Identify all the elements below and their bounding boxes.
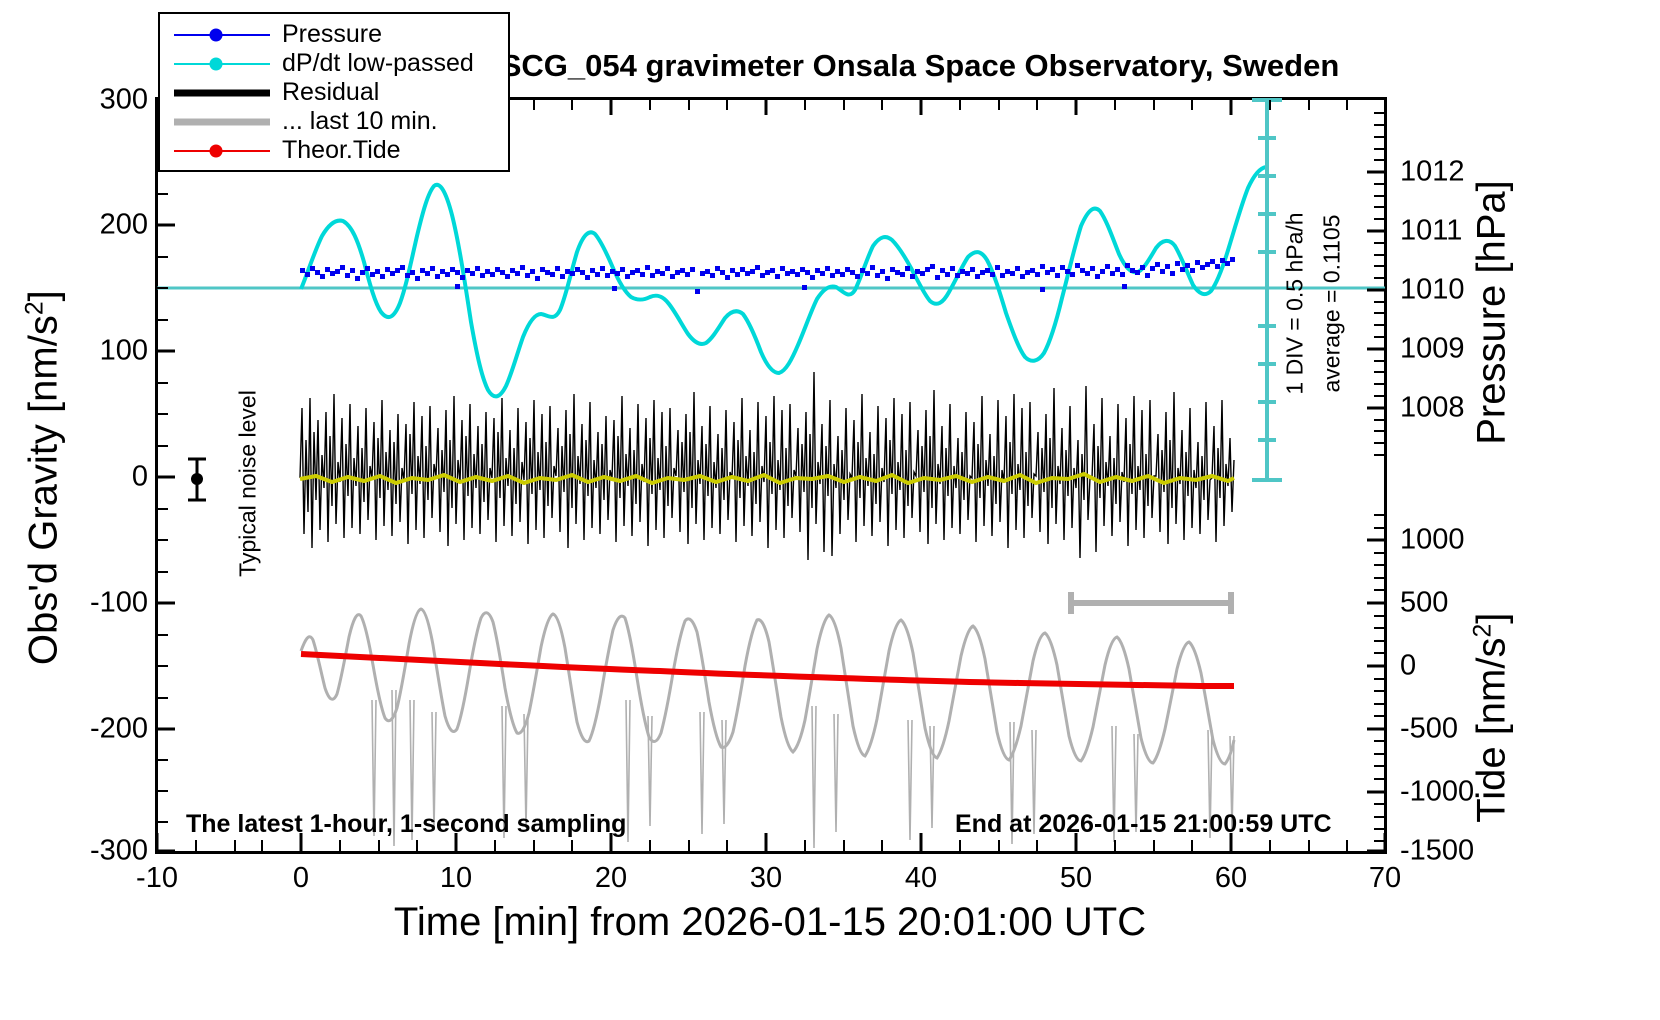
annotation-end-time: End at 2026-01-15 21:00:59 UTC xyxy=(955,810,1332,839)
xtick-40: 40 xyxy=(905,862,937,895)
y-axis-title: Obs'd Gravity [nm/s2] xyxy=(21,198,66,758)
ytick-m200: -200 xyxy=(90,713,148,746)
annotation-typical-noise-level: Typical noise level xyxy=(235,369,262,599)
y-axis-title-base: Obs'd Gravity [nm/s xyxy=(22,315,66,665)
legend-swatch-theor-tide xyxy=(174,140,270,162)
ytick-300: 300 xyxy=(100,84,148,117)
tide-axis-title-exponent: 2 xyxy=(1469,624,1496,638)
annotation-div-scale: 1 DIV = 0.5 hPa/h xyxy=(1282,194,1309,414)
legend-label-dpdt: dP/dt low-passed xyxy=(282,49,474,78)
legend-swatch-pressure xyxy=(174,24,270,46)
pressure-tick-1011: 1011 xyxy=(1400,215,1462,248)
annotation-average-value: average = 0.1105 xyxy=(1319,194,1346,414)
tide-tick-1000: 1000 xyxy=(1400,524,1465,557)
legend-swatch-dpdt xyxy=(174,53,270,75)
legend-label-last10: ... last 10 min. xyxy=(282,107,438,136)
pressure-tick-1009: 1009 xyxy=(1400,333,1465,366)
ytick-200: 200 xyxy=(100,209,148,242)
plot-frame xyxy=(155,97,1387,854)
tide-tick-m1000: -1000 xyxy=(1400,776,1474,809)
legend-item-last10[interactable]: ... last 10 min. xyxy=(174,107,508,136)
xtick-10: 10 xyxy=(440,862,472,895)
annotation-sampling-note: The latest 1-hour, 1-second sampling xyxy=(186,810,626,839)
tide-tick-m500: -500 xyxy=(1400,713,1458,746)
pressure-axis-title: Pressure [hPa] xyxy=(1470,103,1515,523)
pressure-tick-1012: 1012 xyxy=(1400,156,1465,189)
legend-label-residual: Residual xyxy=(282,78,379,107)
pressure-tick-1010: 1010 xyxy=(1400,274,1465,307)
legend-swatch-residual xyxy=(174,82,270,104)
legend-item-dpdt[interactable]: dP/dt low-passed xyxy=(174,49,508,78)
tide-tick-m1500: -1500 xyxy=(1400,835,1474,868)
x-axis-title: Time [min] from 2026-01-15 20:01:00 UTC xyxy=(150,900,1390,945)
tide-axis-title: Tide [nm/s2] xyxy=(1469,508,1514,928)
ytick-100: 100 xyxy=(100,335,148,368)
tide-axis-title-base: Tide [nm/s xyxy=(1470,638,1514,823)
tide-tick-500: 500 xyxy=(1400,587,1448,620)
legend-label-theor-tide: Theor.Tide xyxy=(282,136,401,165)
ytick-0: 0 xyxy=(132,461,148,494)
xtick-0: 0 xyxy=(293,862,309,895)
chart-legend: Pressure dP/dt low-passed Residual ... l… xyxy=(158,12,510,172)
chart-title: SCG_054 gravimeter Onsala Space Observat… xyxy=(420,48,1420,84)
legend-item-pressure[interactable]: Pressure xyxy=(174,20,508,49)
xtick-20: 20 xyxy=(595,862,627,895)
legend-label-pressure: Pressure xyxy=(282,20,382,49)
legend-item-residual[interactable]: Residual xyxy=(174,78,508,107)
tide-tick-0: 0 xyxy=(1400,650,1416,683)
ytick-m100: -100 xyxy=(90,587,148,620)
xtick-30: 30 xyxy=(750,862,782,895)
y-axis-title-tail: ] xyxy=(22,290,66,301)
xtick-m10: -10 xyxy=(136,862,178,895)
xtick-70: 70 xyxy=(1369,862,1401,895)
xtick-60: 60 xyxy=(1215,862,1247,895)
legend-item-theor-tide[interactable]: Theor.Tide xyxy=(174,136,508,165)
pressure-tick-1008: 1008 xyxy=(1400,392,1465,425)
legend-swatch-last10 xyxy=(174,111,270,133)
xtick-50: 50 xyxy=(1060,862,1092,895)
y-axis-title-exponent: 2 xyxy=(21,301,48,315)
tide-axis-title-tail: ] xyxy=(1470,613,1514,624)
